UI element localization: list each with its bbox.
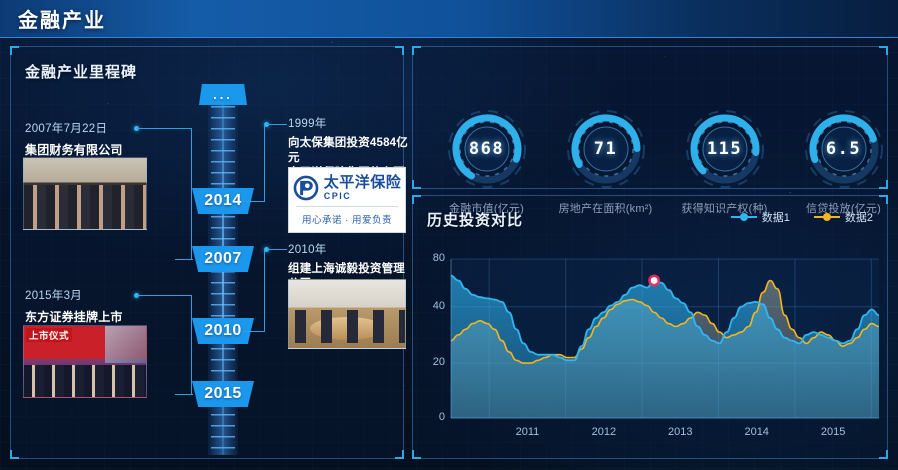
cpic-logo-card: 太平洋保险 CPIC 用心承诺 · 用爱负责 — [288, 167, 406, 233]
event-2015-connector-tail — [175, 394, 193, 395]
corner-accent-bottom-right — [395, 450, 404, 459]
event-2015-photo-glass — [105, 326, 146, 363]
x-axis-tick-2015: 2015 — [810, 426, 856, 438]
gauge-realestate-area-dial: 71 — [564, 107, 648, 191]
corner-accent-top-right — [395, 46, 404, 55]
x-axis-tick-2014: 2014 — [734, 426, 780, 438]
milestone-panel-title: 金融产业里程碑 — [25, 61, 137, 82]
event-1999-connector-tail — [243, 201, 265, 202]
gauge-market-value-dial: 868 — [445, 107, 529, 191]
cpic-slogan: 用心承诺 · 用爱负责 — [302, 212, 392, 226]
event-1999-connector-vertical — [264, 124, 265, 202]
cpic-logo-icon — [293, 175, 319, 201]
event-2015-photo-caption: 上市仪式 — [26, 328, 72, 342]
x-axis-tick-2011: 2011 — [504, 426, 550, 438]
chart-plot-area — [413, 196, 889, 460]
event-2010-connector-vertical — [264, 249, 265, 331]
gauge-credit-issued-number: 6.5 — [802, 107, 886, 191]
kpi-corner-bottom-left — [412, 180, 421, 189]
app-header: 金融产业 — [0, 0, 898, 38]
kpi-corner-top-right — [879, 46, 888, 55]
event-2010-date: 2010年 — [288, 241, 413, 257]
cpic-logo-divider — [296, 206, 398, 207]
corner-accent-top-left — [10, 46, 19, 55]
dashboard-root: 金融产业 金融产业里程碑 ... 2014 2007 2010 2015 200… — [0, 0, 898, 470]
corner-accent-bottom-left — [10, 450, 19, 459]
milestone-panel: 金融产业里程碑 ... 2014 2007 2010 2015 2007年7月2… — [10, 46, 404, 459]
event-2007-photo-figures — [24, 185, 146, 229]
event-2015-text: 东方证券挂牌上市 — [25, 308, 175, 325]
chart-panel: 历史投资对比 数据1 数据2 0204080201120122013201420… — [412, 195, 888, 459]
event-2007-connector-horizontal — [137, 128, 192, 129]
event-2007-connector-vertical — [191, 128, 192, 259]
event-2015-connector-vertical — [191, 295, 192, 394]
gauge-ip-rights-dial: 115 — [683, 107, 767, 191]
y-axis-tick-80: 80 — [419, 252, 445, 264]
y-axis-tick-20: 20 — [419, 356, 445, 368]
event-2015-photo: 上市仪式 — [23, 325, 147, 398]
event-1999-date: 1999年 — [288, 115, 413, 131]
event-2015-photo-figures — [24, 365, 146, 397]
event-2010-photo — [288, 279, 406, 349]
event-2007-text: 集团财务有限公司 — [25, 141, 175, 158]
gauge-ip-rights-number: 115 — [683, 107, 767, 191]
cpic-logo-row: 太平洋保险 CPIC — [293, 175, 402, 202]
event-2010-photo-figures — [289, 310, 405, 343]
x-axis-tick-2013: 2013 — [657, 426, 703, 438]
gauge-credit-issued-dial: 6.5 — [802, 107, 886, 191]
kpi-panel: 868 金融市值(亿元) 71 房地产在面积(km²) — [412, 46, 888, 189]
timeline-year-2015[interactable]: 2015 — [192, 381, 254, 407]
y-axis-tick-40: 40 — [419, 300, 445, 312]
page-title: 金融产业 — [18, 4, 106, 33]
y-axis-tick-0: 0 — [419, 411, 445, 423]
timeline-year-2007[interactable]: 2007 — [192, 246, 254, 272]
event-1999-connector-top — [267, 124, 287, 125]
event-2007-photo — [23, 157, 147, 230]
event-2007-connector-tail — [175, 259, 193, 260]
cpic-logo-names: 太平洋保险 CPIC — [324, 175, 402, 202]
kpi-corner-top-left — [412, 46, 421, 55]
event-2010-connector-top — [267, 249, 287, 250]
cpic-name-en: CPIC — [324, 191, 402, 202]
gauge-market-value-number: 868 — [445, 107, 529, 191]
cpic-name-cn: 太平洋保险 — [324, 175, 402, 191]
chart-svg — [413, 196, 889, 460]
timeline-more-marker[interactable]: ... — [199, 84, 247, 105]
x-axis-tick-2012: 2012 — [581, 426, 627, 438]
event-2010-connector-tail — [243, 331, 265, 332]
gauge-realestate-area-number: 71 — [564, 107, 648, 191]
event-2015-connector-horizontal — [137, 295, 192, 296]
event-1999-text-line1: 向太保集团投资4584亿元 — [288, 136, 413, 166]
